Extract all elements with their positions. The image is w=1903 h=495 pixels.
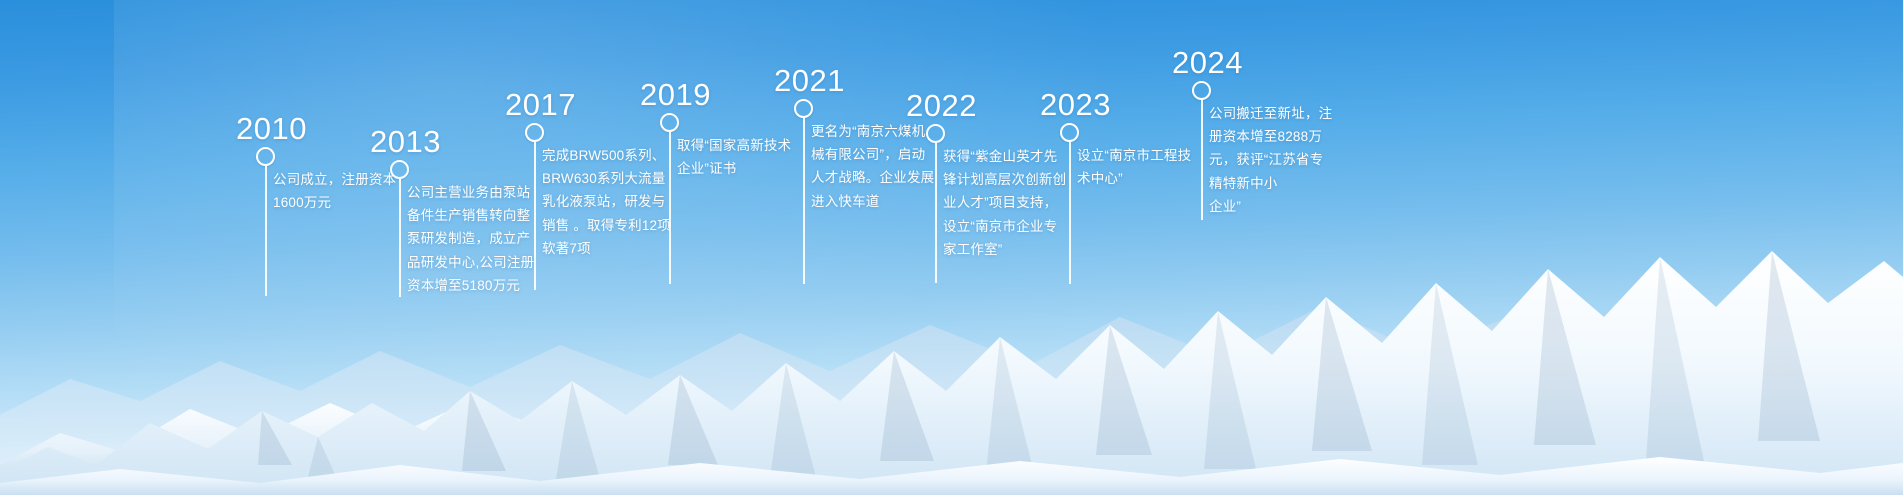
timeline-stem-2017 — [534, 142, 536, 290]
timeline-node-2010[interactable] — [256, 147, 275, 166]
timeline-infographic: 2010 公司成立，注册资本 1600万元 2013 公司主营业务由泵站 备件生… — [0, 0, 1903, 495]
timeline-stem-2013 — [399, 179, 401, 297]
timeline-description-2019: 取得“国家高新技术 企业”证书 — [677, 134, 822, 180]
timeline-node-2019[interactable] — [660, 113, 679, 132]
timeline-description-2024: 公司搬迁至新址，注 册资本增至8288万 元，获评“江苏省专 精特新中小 企业” — [1209, 102, 1359, 218]
timeline-year-2013: 2013 — [370, 126, 441, 157]
timeline-year-2022: 2022 — [906, 90, 977, 121]
timeline-node-2022[interactable] — [926, 124, 945, 143]
timeline-node-2023[interactable] — [1060, 123, 1079, 142]
timeline-year-2023: 2023 — [1040, 89, 1111, 120]
timeline-year-2010: 2010 — [236, 113, 307, 144]
timeline-node-2013[interactable] — [390, 160, 409, 179]
timeline-node-2017[interactable] — [525, 123, 544, 142]
timeline-stem-2019 — [669, 132, 671, 284]
timeline-stem-2022 — [935, 143, 937, 283]
timeline-stem-2021 — [803, 118, 805, 284]
timeline-year-2024: 2024 — [1172, 47, 1243, 78]
timeline-node-2021[interactable] — [794, 99, 813, 118]
timeline-year-2017: 2017 — [505, 89, 576, 120]
timeline-description-2013: 公司主营业务由泵站 备件生产销售转向整 泵研发制造，成立产 品研发中心,公司注册… — [407, 181, 552, 297]
timeline-year-2019: 2019 — [640, 79, 711, 110]
timeline-year-2021: 2021 — [774, 65, 845, 96]
timeline-stem-2010 — [265, 166, 267, 296]
timeline-stem-2024 — [1201, 100, 1203, 220]
timeline-description-2023: 设立“南京市工程技 术中心” — [1077, 144, 1227, 190]
timeline-stem-2023 — [1069, 142, 1071, 284]
timeline-node-2024[interactable] — [1192, 81, 1211, 100]
timeline-description-2022: 获得“紫金山英才先 锋计划高层次创新创 业人才”项目支持， 设立“南京市企业专 … — [943, 145, 1095, 261]
